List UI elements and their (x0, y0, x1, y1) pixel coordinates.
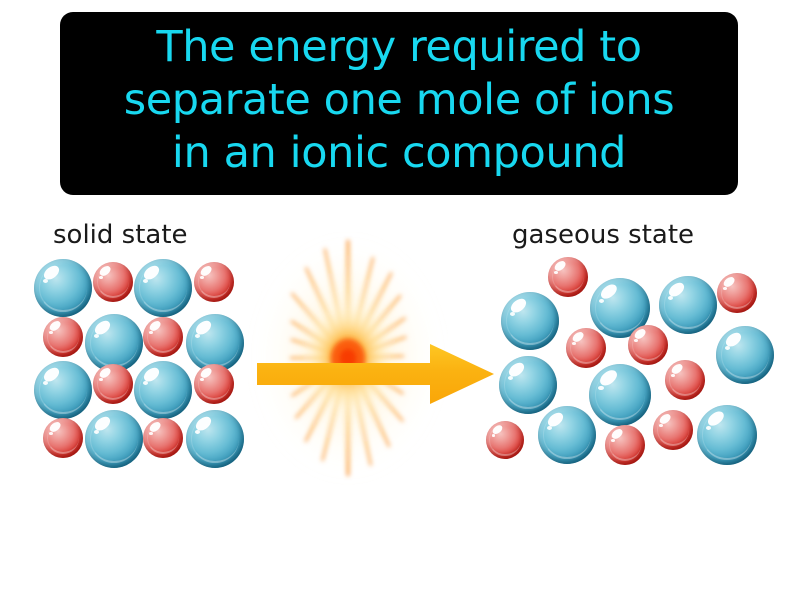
lattice-ion-anion-4 (43, 317, 83, 357)
sphere-sheen (47, 321, 80, 354)
sphere-sheen (609, 429, 642, 462)
lattice-ion-cation-8 (34, 361, 92, 419)
gas-ion-anion-13 (605, 425, 645, 465)
gas-ion-cation-7 (716, 326, 774, 384)
solid-lattice-diagram (30, 255, 255, 470)
gas-ion-cation-8 (499, 356, 557, 414)
sphere-sheen (191, 415, 239, 463)
sphere-sheen (198, 368, 231, 401)
sphere-sheen (721, 277, 754, 310)
definition-line-2: separate one mole of ions (124, 74, 675, 127)
sphere-sheen (595, 283, 644, 332)
sphere-sheen (632, 329, 665, 362)
sphere-sheen (702, 410, 751, 459)
gas-ion-cation-3 (659, 276, 717, 334)
sphere-sheen (543, 411, 591, 459)
gaseous-cloud-diagram (470, 255, 770, 475)
gas-ion-anion-6 (628, 325, 668, 365)
sphere-sheen (139, 264, 187, 312)
lattice-ion-cation-0 (34, 259, 92, 317)
sphere-sheen (147, 422, 180, 455)
sphere-sheen (664, 281, 712, 329)
sphere-sheen (506, 297, 554, 345)
lattice-ion-anion-11 (194, 364, 234, 404)
sphere-sheen (47, 422, 80, 455)
gas-ion-cation-12 (538, 406, 596, 464)
sphere-sheen (90, 319, 138, 367)
lattice-ion-anion-9 (93, 364, 133, 404)
sphere-sheen (595, 370, 646, 421)
solid-state-label: solid state (53, 220, 188, 250)
sphere-sheen (198, 266, 231, 299)
gas-ion-anion-5 (566, 328, 606, 368)
sphere-sheen (504, 361, 552, 409)
energy-transition-group (248, 232, 498, 488)
sphere-sheen (139, 366, 187, 414)
lattice-ion-cation-2 (134, 259, 192, 317)
sphere-sheen (669, 364, 702, 397)
definition-banner: The energy required to separate one mole… (60, 12, 738, 195)
sphere-sheen (97, 368, 130, 401)
sphere-sheen (90, 415, 138, 463)
lattice-ion-cation-15 (186, 410, 244, 468)
lattice-ion-cation-13 (85, 410, 143, 468)
lattice-ion-anion-6 (143, 317, 183, 357)
lattice-ion-anion-12 (43, 418, 83, 458)
lattice-ion-anion-3 (194, 262, 234, 302)
gas-ion-anion-11 (486, 421, 524, 459)
gas-ion-anion-10 (665, 360, 705, 400)
lattice-ion-anion-1 (93, 262, 133, 302)
definition-line-1: The energy required to (156, 21, 641, 74)
gas-ion-anion-4 (717, 273, 757, 313)
sphere-sheen (657, 414, 690, 447)
gaseous-state-label: gaseous state (512, 220, 694, 250)
sphere-sheen (97, 266, 130, 299)
sphere-sheen (39, 366, 87, 414)
sphere-sheen (552, 261, 585, 294)
definition-card: The energy required to separate one mole… (0, 0, 800, 600)
sphere-sheen (39, 264, 87, 312)
sphere-sheen (147, 321, 180, 354)
gas-ion-cation-15 (697, 405, 757, 465)
sphere-sheen (721, 331, 769, 379)
gas-ion-anion-0 (548, 257, 588, 297)
sphere-sheen (570, 332, 603, 365)
gas-ion-anion-14 (653, 410, 693, 450)
gas-ion-cation-9 (589, 364, 651, 426)
sphere-sheen (191, 319, 239, 367)
lattice-ion-anion-14 (143, 418, 183, 458)
gas-ion-cation-1 (501, 292, 559, 350)
energy-input-arrow (257, 342, 495, 406)
lattice-ion-cation-10 (134, 361, 192, 419)
definition-line-3: in an ionic compound (172, 127, 626, 180)
sphere-sheen (489, 424, 520, 455)
